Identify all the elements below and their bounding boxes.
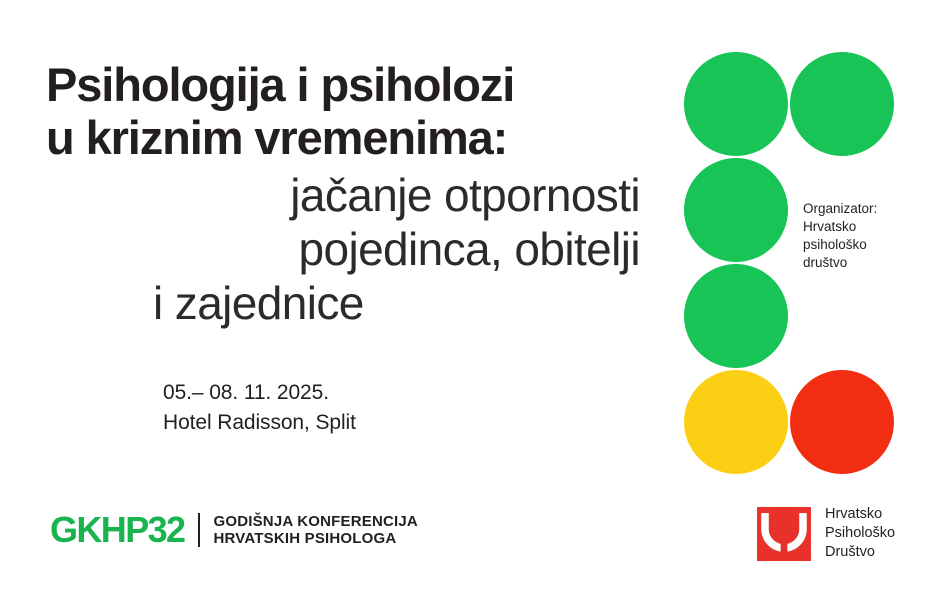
dot-red-bottom-right [790, 370, 894, 474]
dot-green-top-left [684, 52, 788, 156]
conference-tagline-line-1: GODIŠNJA KONFERENCIJA [213, 513, 418, 530]
organizer-note: Organizator: Hrvatsko psihološko društvo [803, 200, 923, 272]
subtitle-line-1: jačanje otpornosti [46, 168, 640, 222]
organizer-label: Organizator: [803, 200, 923, 218]
event-date: 05.– 08. 11. 2025. [163, 378, 356, 408]
dot-green-lower [684, 264, 788, 368]
society-name-line-2: Psihološko [825, 524, 895, 543]
organizer-line-2: psihološko [803, 236, 923, 254]
headline: Psihologija i psiholozi u kriznim vremen… [46, 58, 646, 164]
logo-divider [198, 513, 200, 547]
conference-logo: GKHP32 GODIŠNJA KONFERENCIJA HRVATSKIH P… [50, 510, 418, 550]
society-logo: Hrvatsko Psihološko Društvo [757, 505, 895, 562]
headline-line-2: u kriznim vremenima: [46, 111, 646, 164]
subtitle: jačanje otpornosti pojedinca, obitelji i… [46, 168, 640, 330]
organizer-line-3: društvo [803, 254, 923, 272]
conference-tagline: GODIŠNJA KONFERENCIJA HRVATSKIH PSIHOLOG… [213, 513, 418, 547]
dot-yellow-bottom-left [684, 370, 788, 474]
event-details: 05.– 08. 11. 2025. Hotel Radisson, Split [163, 378, 356, 438]
poster-canvas: Psihologija i psiholozi u kriznim vremen… [0, 0, 940, 600]
conference-tagline-line-2: HRVATSKIH PSIHOLOGA [213, 530, 418, 547]
subtitle-line-3: i zajednice [46, 276, 640, 330]
headline-line-1: Psihologija i psiholozi [46, 58, 646, 111]
society-name-line-3: Društvo [825, 543, 895, 562]
organizer-line-1: Hrvatsko [803, 218, 923, 236]
event-venue: Hotel Radisson, Split [163, 408, 356, 438]
dot-green-middle [684, 158, 788, 262]
gkhp-wordmark: GKHP32 [50, 510, 184, 550]
society-name: Hrvatsko Psihološko Društvo [825, 505, 895, 562]
psi-icon [757, 507, 811, 561]
society-name-line-1: Hrvatsko [825, 505, 895, 524]
subtitle-line-2: pojedinca, obitelji [46, 222, 640, 276]
dot-green-top-right [790, 52, 894, 156]
